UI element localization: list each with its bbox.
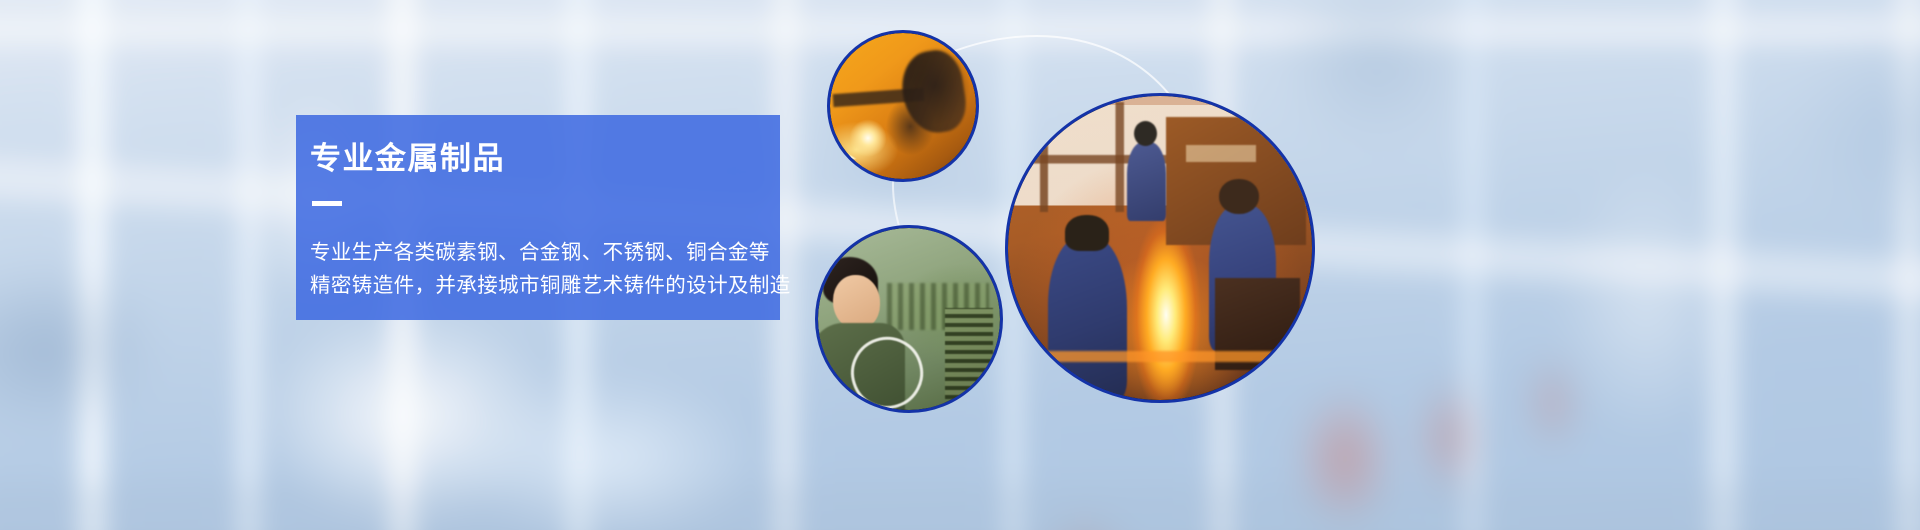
hero-banner: 专业金属制品 专业生产各类碳素钢、合金钢、不锈钢、铜合金等 精密铸造件，并承接城… bbox=[0, 0, 1920, 530]
banner-title: 专业金属制品 bbox=[310, 142, 780, 176]
background-machinery bbox=[0, 0, 1920, 530]
banner-description-line-1: 专业生产各类碳素钢、合金钢、不锈钢、铜合金等 bbox=[310, 236, 780, 269]
title-divider bbox=[312, 201, 342, 206]
background-image bbox=[0, 0, 1920, 530]
banner-description: 专业生产各类碳素钢、合金钢、不锈钢、铜合金等 精密铸造件，并承接城市铜雕艺术铸件… bbox=[310, 236, 780, 302]
headline-card: 专业金属制品 专业生产各类碳素钢、合金钢、不锈钢、铜合金等 精密铸造件，并承接城… bbox=[296, 115, 780, 320]
banner-description-line-2: 精密铸造件，并承接城市铜雕艺术铸件的设计及制造 bbox=[310, 269, 780, 302]
